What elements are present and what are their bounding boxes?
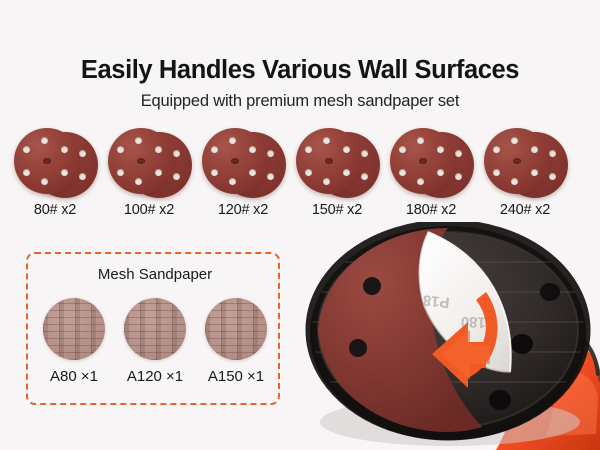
mesh-sandpaper-box: Mesh Sandpaper A80 ×1 A120 ×1 A150 ×1 [26,252,280,405]
disc-item-100: 100# x2 [102,126,196,231]
sanding-disc-front [14,128,80,194]
disc-hole [349,339,367,357]
disc-label: 240# x2 [478,202,572,218]
disc-center-mark [43,158,51,164]
mesh-item-a120: A120 ×1 [115,298,195,360]
sanding-disc-row: 80# x2 [0,126,600,231]
disc-item-150: 150# x2 [290,126,384,231]
disc-center-mark [231,158,239,164]
disc-center-mark [325,158,333,164]
mesh-sanding-disc [205,298,267,360]
disc-item-180: 180# x2 [384,126,478,231]
page-subtitle: Equipped with premium mesh sandpaper set [0,92,600,111]
mesh-disc-label: A80 ×1 [34,368,114,385]
sander-illustration: P180 P180 P180 P180 P180 P180 [300,222,600,450]
disc-label: 100# x2 [102,202,196,218]
disc-stack [202,128,286,198]
disc-center-mark [513,158,521,164]
disc-item-240: 240# x2 [478,126,572,231]
sanding-disc-front [296,128,362,194]
disc-item-80: 80# x2 [8,126,102,231]
disc-stack [14,128,98,198]
mesh-item-a150: A150 ×1 [196,298,276,360]
sanding-disc-front [390,128,456,194]
disc-item-120: 120# x2 [196,126,290,231]
disc-center-mark [419,158,427,164]
page-title: Easily Handles Various Wall Surfaces [0,56,600,85]
mesh-disc-row: A80 ×1 A120 ×1 A150 ×1 [28,298,282,406]
disc-stack [108,128,192,198]
mesh-box-title: Mesh Sandpaper [28,266,282,283]
orbital-sander-image: P180 P180 P180 P180 P180 P180 [300,222,600,450]
mesh-item-a80: A80 ×1 [34,298,114,360]
disc-stack [390,128,474,198]
sanding-disc-front [202,128,268,194]
mesh-disc-label: A150 ×1 [196,368,276,385]
disc-label: 180# x2 [384,202,478,218]
disc-label: 80# x2 [8,202,102,218]
disc-label: 120# x2 [196,202,290,218]
disc-hole [363,277,381,295]
product-marketing-image: Easily Handles Various Wall Surfaces Equ… [0,0,600,450]
sanding-disc-front [484,128,550,194]
disc-stack [296,128,380,198]
mesh-sanding-disc [124,298,186,360]
disc-label: 150# x2 [290,202,384,218]
mesh-sanding-disc [43,298,105,360]
disc-stack [484,128,568,198]
mesh-disc-label: A120 ×1 [115,368,195,385]
disc-center-mark [137,158,145,164]
sanding-disc-front [108,128,174,194]
